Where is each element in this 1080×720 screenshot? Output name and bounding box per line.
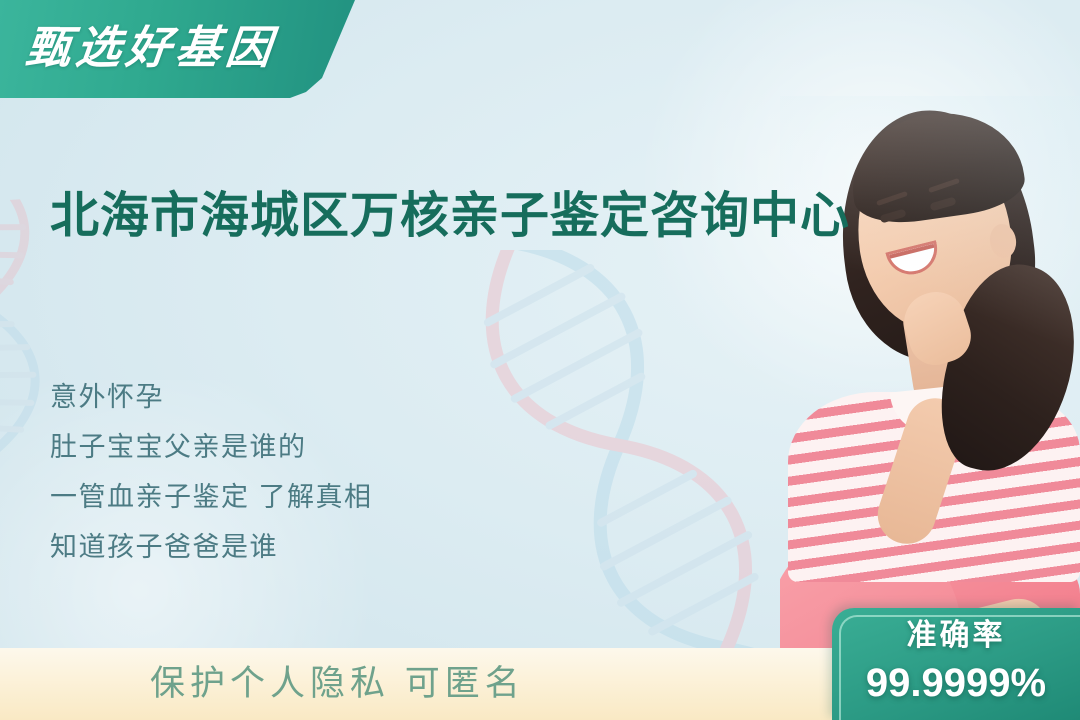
- promo-banner: 甄选好基因 北海市海城区万核亲子鉴定咨询中心 意外怀孕 肚子宝宝父亲是谁的 一管…: [0, 0, 1080, 720]
- copy-line: 肚子宝宝父亲是谁的: [50, 422, 610, 472]
- copy-line: 知道孩子爸爸是谁: [50, 522, 610, 572]
- accuracy-badge: 准确率 99.9999%: [824, 594, 1080, 720]
- page-title: 北海市海城区万核亲子鉴定咨询中心: [50, 185, 850, 247]
- accuracy-badge-value: 99.9999%: [832, 658, 1080, 708]
- brand-logo-ribbon[interactable]: 甄选好基因: [0, 0, 360, 98]
- copy-line: 一管血亲子鉴定 了解真相: [50, 472, 610, 522]
- marketing-copy: 意外怀孕 肚子宝宝父亲是谁的 一管血亲子鉴定 了解真相 知道孩子爸爸是谁: [50, 372, 610, 572]
- copy-line: 意外怀孕: [50, 372, 610, 422]
- accuracy-badge-panel: 准确率 99.9999%: [832, 608, 1080, 720]
- brand-logo-text: 甄选好基因: [23, 18, 279, 78]
- accuracy-badge-label: 准确率: [832, 616, 1080, 656]
- privacy-banner-text: 保护个人隐私 可匿名: [150, 658, 525, 710]
